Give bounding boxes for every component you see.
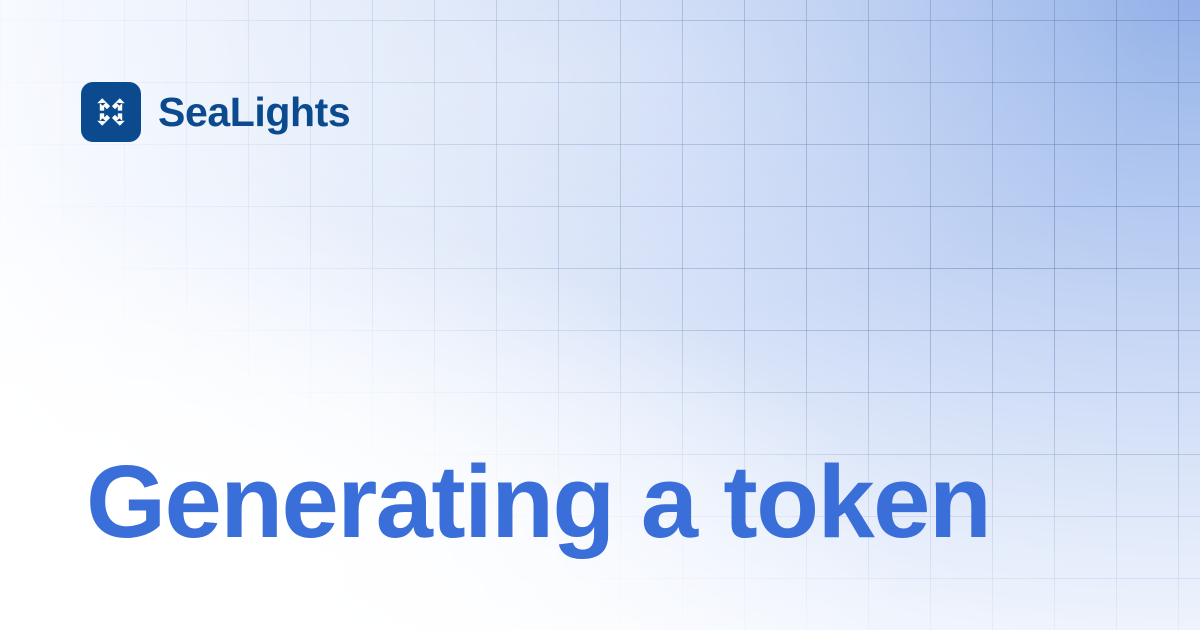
page-title: Generating a token <box>86 446 990 557</box>
og-card: SeaLights Generating a token <box>0 0 1200 630</box>
brand-logo-lockup[interactable]: SeaLights <box>81 82 350 142</box>
brand-wordmark: SeaLights <box>158 92 350 133</box>
sealights-x-mark-icon <box>81 82 141 142</box>
